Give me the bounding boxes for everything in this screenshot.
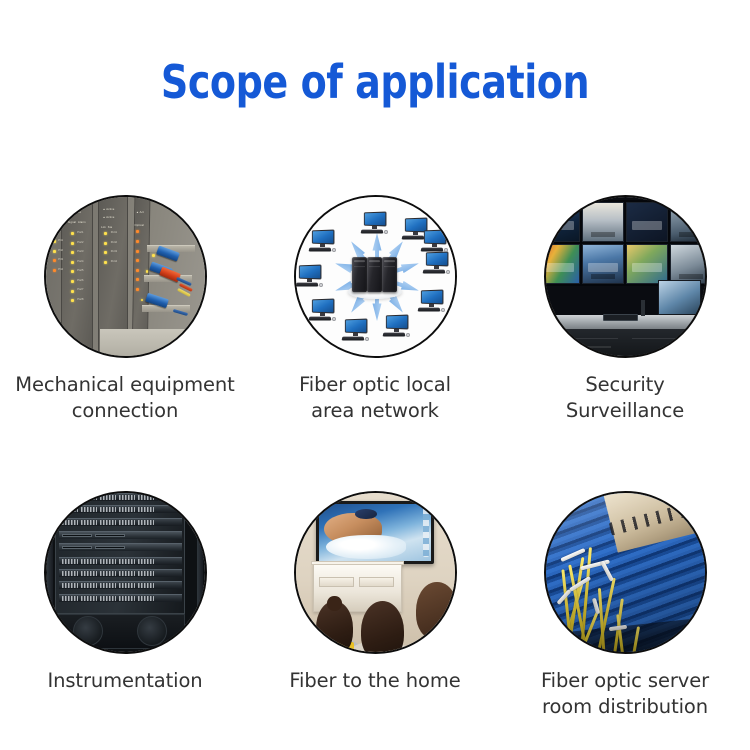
caption-line: Fiber optic local [299, 372, 451, 398]
caption-line: Fiber optic server [541, 668, 709, 694]
caption-fiber-to-the-home: Fiber to the home [289, 668, 460, 694]
scope-of-application-page: Scope of application ▲ Active Signal Ala… [0, 0, 750, 750]
caption-line: area network [299, 398, 451, 424]
caption-instrumentation: Instrumentation [47, 668, 202, 694]
caption-security-surveillance: Security Surveillance [566, 372, 684, 424]
instrumentation-photo [44, 491, 207, 654]
caption-line: Instrumentation [47, 668, 202, 694]
caption-line: Surveillance [566, 398, 684, 424]
application-item-fiber-optic-local-area-network: Fiber optic local area network [250, 195, 500, 424]
application-item-mechanical-equipment-connection: ▲ Active Signal Alarm ▲ Active ▲ Active … [0, 195, 250, 424]
caption-line: Mechanical equipment [15, 372, 234, 398]
application-item-security-surveillance: Security Surveillance [500, 195, 750, 424]
fiber-optic-server-room-distribution-photo [544, 491, 707, 654]
application-item-fiber-to-the-home: Fiber to the home [250, 491, 500, 720]
page-title: Scope of application [30, 55, 720, 109]
grid-row-1: ▲ Active Signal Alarm ▲ Active ▲ Active … [0, 195, 750, 424]
fiber-to-the-home-photo [294, 491, 457, 654]
caption-line: Security [566, 372, 684, 398]
caption-fiber-optic-local-area-network: Fiber optic local area network [299, 372, 451, 424]
fiber-optic-lan-diagram [294, 195, 457, 358]
application-item-fiber-optic-server-room-distribution: Fiber optic server room distribution [500, 491, 750, 720]
application-item-instrumentation: Instrumentation [0, 491, 250, 720]
grid-row-2: Instrumentation [0, 491, 750, 720]
mechanical-equipment-connection-photo: ▲ Active Signal Alarm ▲ Active ▲ Active … [44, 195, 207, 358]
caption-line: connection [15, 398, 234, 424]
caption-mechanical-equipment-connection: Mechanical equipment connection [15, 372, 234, 424]
caption-line: room distribution [541, 694, 709, 720]
caption-fiber-optic-server-room-distribution: Fiber optic server room distribution [541, 668, 709, 720]
security-surveillance-photo [544, 195, 707, 358]
caption-line: Fiber to the home [289, 668, 460, 694]
application-grid: ▲ Active Signal Alarm ▲ Active ▲ Active … [0, 195, 750, 720]
